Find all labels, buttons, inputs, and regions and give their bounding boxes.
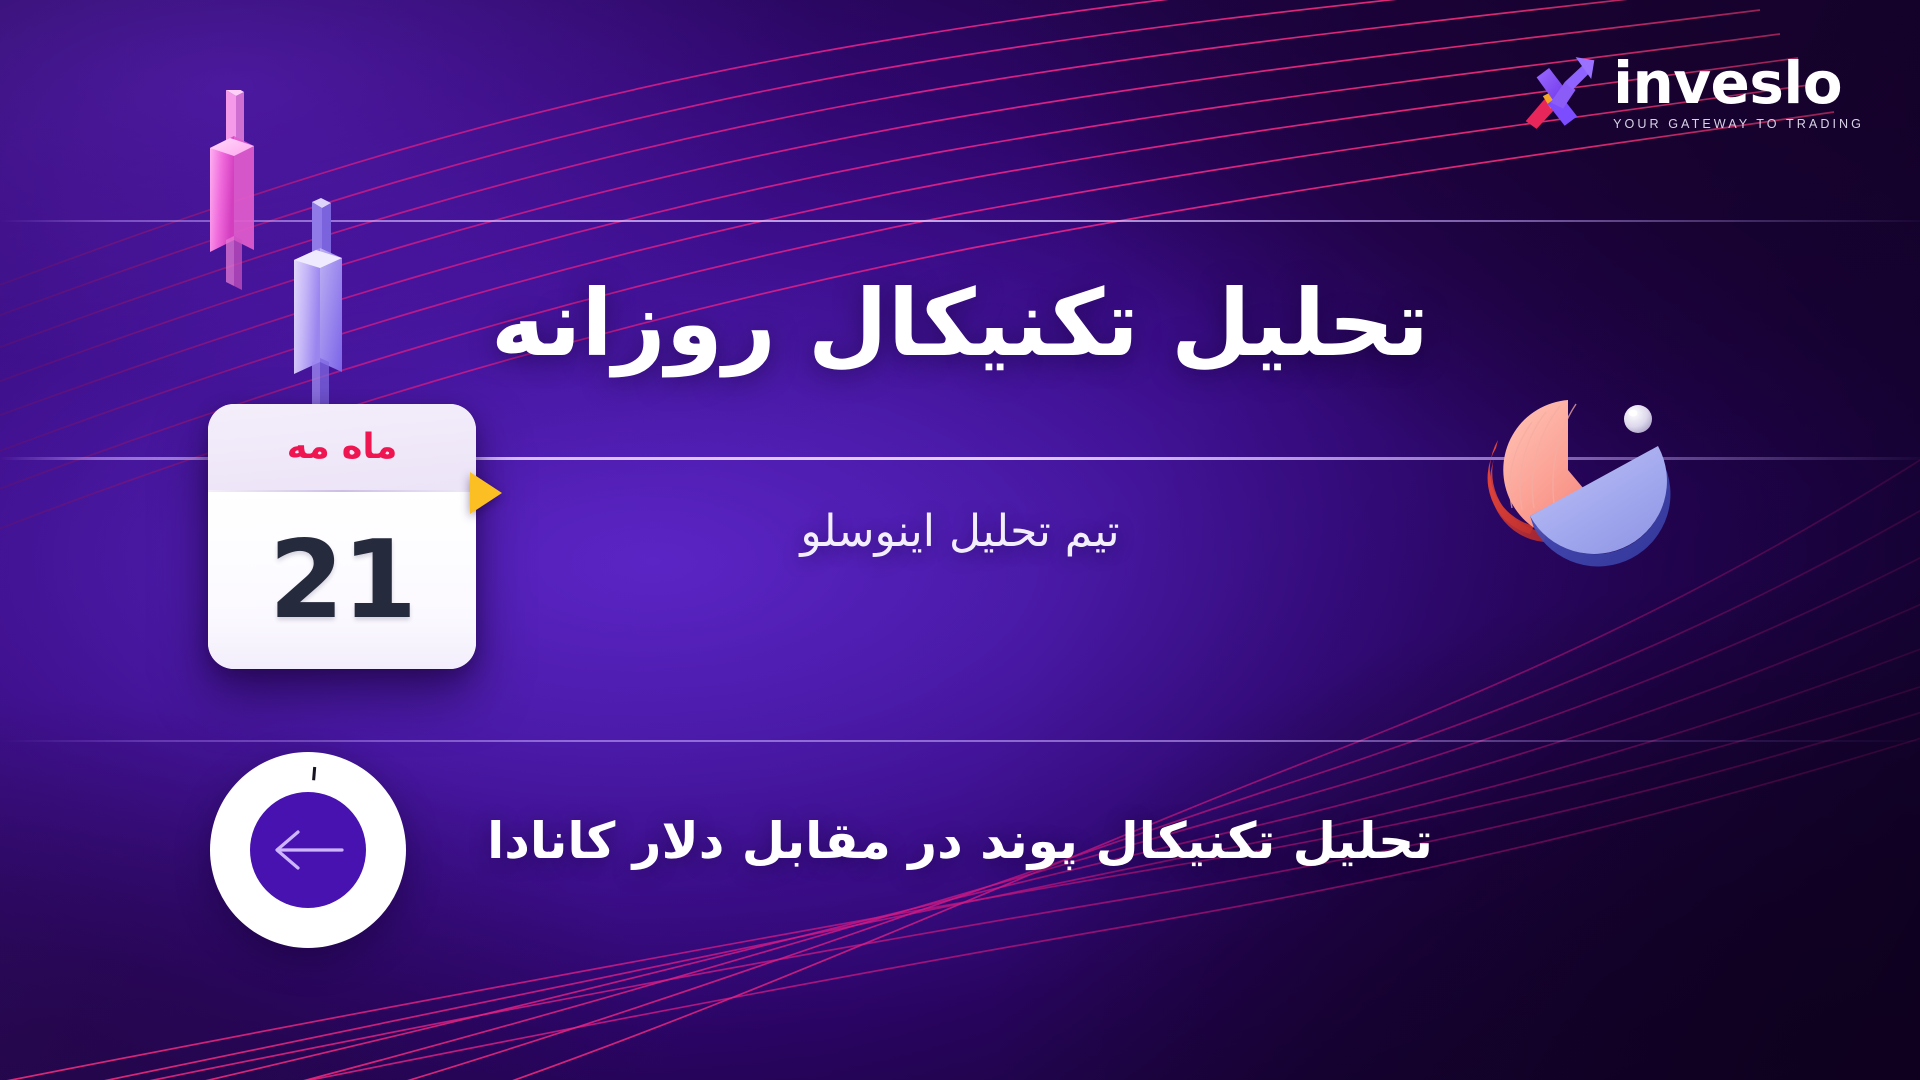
logo-wordmark: inveslo bbox=[1613, 55, 1842, 112]
page-subtitle: تیم تحلیل اینوسلو bbox=[0, 506, 1920, 557]
arrow-left-icon[interactable] bbox=[268, 828, 348, 872]
calendar-month-label: ماه مه bbox=[287, 427, 398, 467]
page-title: تحلیل تکنیکال روزانه bbox=[0, 272, 1920, 375]
cta-ring-label: الان ببین • الان ببین • bbox=[210, 752, 318, 785]
inveslo-arrow-x-mark-icon bbox=[1521, 54, 1599, 132]
cta-circle-badge[interactable]: الان ببین • الان ببین • bbox=[210, 752, 406, 948]
inveslo-logo[interactable]: inveslo YOUR GATEWAY TO TRADING bbox=[1521, 54, 1864, 132]
svg-text:الان ببین • الان ببین •: الان ببین • الان ببین • bbox=[210, 752, 318, 785]
logo-tagline: YOUR GATEWAY TO TRADING bbox=[1613, 117, 1864, 131]
calendar-header: ماه مه bbox=[208, 404, 476, 490]
banner-canvas: inveslo YOUR GATEWAY TO TRADING ماه مه 2… bbox=[0, 0, 1920, 1080]
logo-text-block: inveslo YOUR GATEWAY TO TRADING bbox=[1613, 55, 1864, 131]
